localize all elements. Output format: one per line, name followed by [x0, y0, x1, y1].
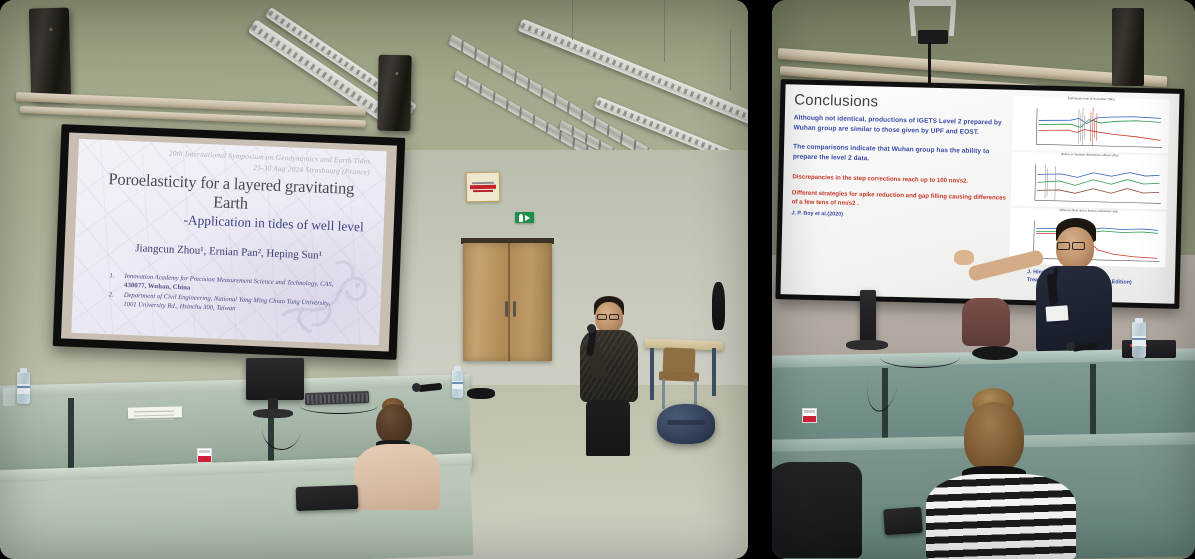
hanging-coat [712, 282, 725, 330]
cable-coil [972, 346, 1018, 360]
wall-speaker [377, 55, 411, 132]
photo-collage: 20th International Symposium on Geodynam… [0, 0, 1195, 559]
presenter-hand [954, 250, 974, 265]
strategy-note: Different strategies for spike reduction… [792, 188, 1006, 212]
backpack [772, 462, 862, 558]
presenter-person [570, 296, 650, 456]
office-chair [962, 298, 1010, 346]
audience-head [964, 402, 1024, 472]
screen-border: 20th International Symposium on Geodynam… [61, 133, 397, 352]
water-bottle [452, 370, 463, 398]
computer-monitor [246, 358, 304, 400]
chart-title: Earthquake time (4 December 1982) [1013, 96, 1169, 103]
chair-leg [662, 379, 665, 409]
smartphone [883, 507, 923, 536]
suspension-wire [664, 0, 665, 62]
conference-badge [1046, 305, 1069, 321]
suspension-wire [730, 30, 731, 90]
chart-plot [1011, 160, 1168, 210]
wall-speaker [1112, 8, 1144, 86]
desk-leg [68, 398, 74, 476]
microphone-head [412, 383, 421, 392]
laptop [296, 485, 359, 511]
eyeglasses-icon [1072, 242, 1085, 250]
wall-speaker [29, 7, 71, 100]
chart-plot [1012, 104, 1169, 154]
drinking-glass [3, 388, 15, 406]
left-photo-lecture-hall: 20th International Symposium on Geodynam… [0, 0, 748, 559]
double-door [463, 243, 552, 361]
suspension-wire [572, 0, 573, 40]
microphone-head [1066, 342, 1075, 351]
conclusion-paragraph: The comparisons indicate that Wuhan grou… [793, 142, 1007, 167]
eyeglasses-icon [1057, 242, 1070, 250]
chart-panel: Before or transient disturbance without … [1011, 152, 1168, 210]
discrepancy-note: Discrepancies in the step corrections re… [792, 172, 1006, 186]
conclusion-paragraph: Although not identical, productions of I… [793, 113, 1007, 138]
warning-label [197, 448, 212, 463]
slide-title-page: 20th International Symposium on Geodynam… [71, 139, 387, 345]
desk-leg [650, 348, 654, 400]
wall-poster [466, 172, 501, 203]
reference-citation: J. P. Boy et al.(2020) [791, 210, 1005, 223]
audio-console [1122, 340, 1176, 358]
right-photo-conclusions: Conclusions Although not identical, prod… [772, 0, 1195, 559]
eyeglasses-icon [609, 314, 619, 320]
emergency-exit-icon [515, 212, 534, 223]
audience-person-front [352, 396, 472, 516]
presenter-legs [586, 400, 630, 456]
audience-head [376, 404, 412, 444]
monitor-stand-base [846, 340, 888, 350]
backpack [657, 404, 715, 444]
desk-leg [712, 348, 716, 396]
projector [918, 30, 948, 44]
projection-screen: 20th International Symposium on Geodynam… [53, 124, 406, 360]
chart-panel: Earthquake time (4 December 1982) [1012, 96, 1169, 154]
water-bottle [17, 372, 30, 404]
microphone-head [587, 324, 596, 333]
slide-authors: Jiangcun Zhou¹, Ernian Pan², Heping Sun¹ [86, 240, 370, 263]
computer-monitor [860, 290, 876, 342]
projector-mount-bar [910, 0, 956, 6]
warning-label [802, 408, 817, 423]
water-bottle [1132, 322, 1146, 358]
audience-person-front [922, 388, 1102, 559]
audience-torso [354, 444, 440, 510]
eyeglasses-icon [597, 314, 607, 320]
slide-affiliations: 1. Innovation Academy for Precision Meas… [84, 270, 369, 319]
paper-sheet [128, 406, 182, 418]
audience-torso [926, 474, 1076, 559]
